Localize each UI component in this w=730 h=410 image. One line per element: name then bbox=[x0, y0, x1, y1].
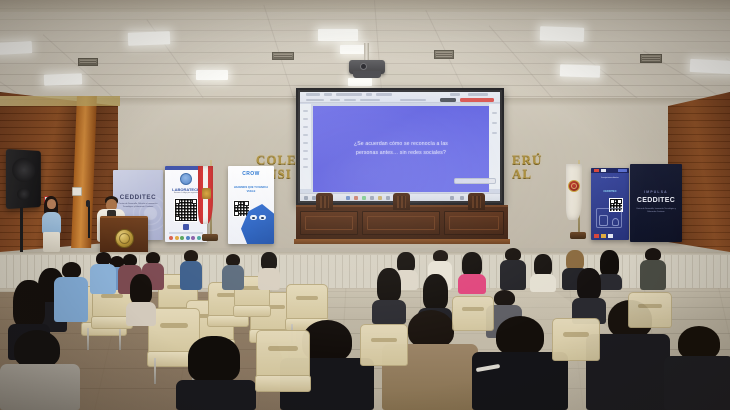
podium bbox=[100, 216, 148, 256]
ceiling-light bbox=[540, 26, 584, 42]
head-table-panel bbox=[362, 211, 440, 235]
audience-member bbox=[530, 254, 556, 292]
ceiling-light bbox=[560, 64, 600, 77]
audience-member bbox=[258, 252, 280, 290]
head-table-top-edge bbox=[294, 239, 510, 244]
head-table bbox=[296, 205, 508, 240]
projected-tab-row bbox=[300, 92, 500, 97]
banner-impulsa-title: CEDDITEC bbox=[630, 197, 682, 204]
wall-light-strip-left bbox=[0, 96, 120, 106]
ceiling-air-vent bbox=[640, 54, 662, 63]
projector-lens bbox=[360, 63, 367, 70]
microphone bbox=[86, 200, 90, 207]
audience-member bbox=[222, 254, 244, 290]
institutional-flag-emblem-icon bbox=[568, 180, 580, 192]
banner-crow-title: CROW bbox=[228, 171, 274, 177]
ceiling-light bbox=[128, 31, 170, 45]
conference-hall-photo: COLE ONSI ERÚ AL bbox=[0, 0, 730, 410]
audience-member-foreground bbox=[176, 336, 256, 410]
institutional-flag bbox=[566, 164, 582, 220]
projected-left-rail bbox=[300, 104, 311, 189]
standing-attendee-top bbox=[42, 212, 61, 234]
audience-member bbox=[180, 250, 202, 290]
banner-laboratech-logo-icon bbox=[180, 173, 192, 185]
pa-speaker bbox=[6, 149, 41, 209]
banner-cedditec-right-subtitle: Inscripciones abiertas bbox=[591, 177, 629, 180]
audience-member-foreground bbox=[0, 330, 80, 410]
empty-chair-foreground bbox=[452, 296, 494, 354]
empty-chair-foreground bbox=[256, 330, 310, 410]
ceiling-light bbox=[340, 45, 366, 54]
ceiling-light bbox=[44, 73, 82, 85]
projected-app-toolbar bbox=[300, 92, 500, 103]
ceiling-light bbox=[0, 41, 32, 55]
projection-screen: ¿Se acuerdan cómo se reconocía a las per… bbox=[296, 88, 504, 205]
empty-chair-foreground bbox=[552, 318, 600, 390]
head-table-chair bbox=[316, 193, 333, 210]
head-table-panel bbox=[444, 211, 504, 235]
ceiling-light bbox=[196, 70, 228, 80]
banner-crow: CROW HACEMOS QUE TU MARCA VUELE bbox=[228, 166, 274, 244]
banner-cedditec-right-qr: Inscripciones abiertas CEDDITEC bbox=[591, 168, 629, 240]
banner-laboratech-qr-code bbox=[174, 198, 198, 222]
projected-record-button bbox=[460, 98, 494, 102]
slide-text-block: ¿Se acuerdan cómo se reconocía a las per… bbox=[336, 140, 466, 158]
slide-line-1: ¿Se acuerdan cómo se reconocía a las bbox=[336, 140, 466, 149]
audience-member bbox=[640, 248, 666, 290]
head-table-chair bbox=[393, 193, 410, 210]
slide-line-2: personas antes… sin redes sociales? bbox=[336, 149, 466, 158]
head-table-chair bbox=[468, 193, 485, 210]
peru-flag-stand bbox=[202, 234, 218, 241]
empty-chair-foreground bbox=[360, 324, 408, 394]
podium-seal-emblem-icon bbox=[115, 229, 134, 248]
standing-attendee-head bbox=[47, 199, 56, 209]
ceiling-light bbox=[348, 78, 372, 86]
ceiling-air-vent bbox=[78, 58, 98, 66]
audience-member-foreground bbox=[664, 326, 730, 410]
audience-member bbox=[90, 252, 116, 294]
wall-lettering-right-line2: AL bbox=[512, 166, 532, 182]
banner-impulsa-overline: IMPULSA bbox=[630, 190, 682, 194]
audience-member bbox=[458, 252, 486, 294]
projected-present-button bbox=[440, 98, 456, 102]
projected-floating-toolbar bbox=[454, 178, 496, 184]
wall-utility-box bbox=[72, 187, 82, 196]
banner-cedditec-right-title: CEDDITEC bbox=[591, 190, 629, 194]
audience-member bbox=[126, 274, 156, 326]
ceiling-air-vent bbox=[434, 50, 454, 59]
ceiling-projector bbox=[349, 60, 385, 74]
empty-chair-foreground bbox=[628, 292, 672, 352]
banner-crow-headline: HACEMOS QUE TU MARCA VUELE bbox=[228, 186, 274, 193]
projected-right-rail bbox=[489, 104, 500, 189]
banner-impulsa-cedditec: IMPULSA CEDDITEC Centro de Desarrollo, I… bbox=[630, 164, 682, 242]
microphone-stand bbox=[88, 204, 90, 238]
banner-impulsa-subtitle: Centro de Desarrollo, Innovación Tecnoló… bbox=[630, 208, 682, 214]
ceiling-light bbox=[690, 59, 730, 74]
audience-member bbox=[500, 248, 526, 290]
peru-flag-crest-icon bbox=[202, 188, 211, 199]
institutional-flag-stand bbox=[570, 232, 586, 239]
standing-attendee-skirt bbox=[43, 232, 60, 252]
standing-attendee-left bbox=[40, 196, 62, 252]
ceiling-light bbox=[318, 29, 358, 41]
audience-member bbox=[54, 262, 88, 322]
projection-surface: ¿Se acuerdan cómo se reconocía a las per… bbox=[300, 92, 500, 201]
ceiling-air-vent bbox=[272, 52, 294, 60]
head-table-panel bbox=[300, 211, 358, 235]
